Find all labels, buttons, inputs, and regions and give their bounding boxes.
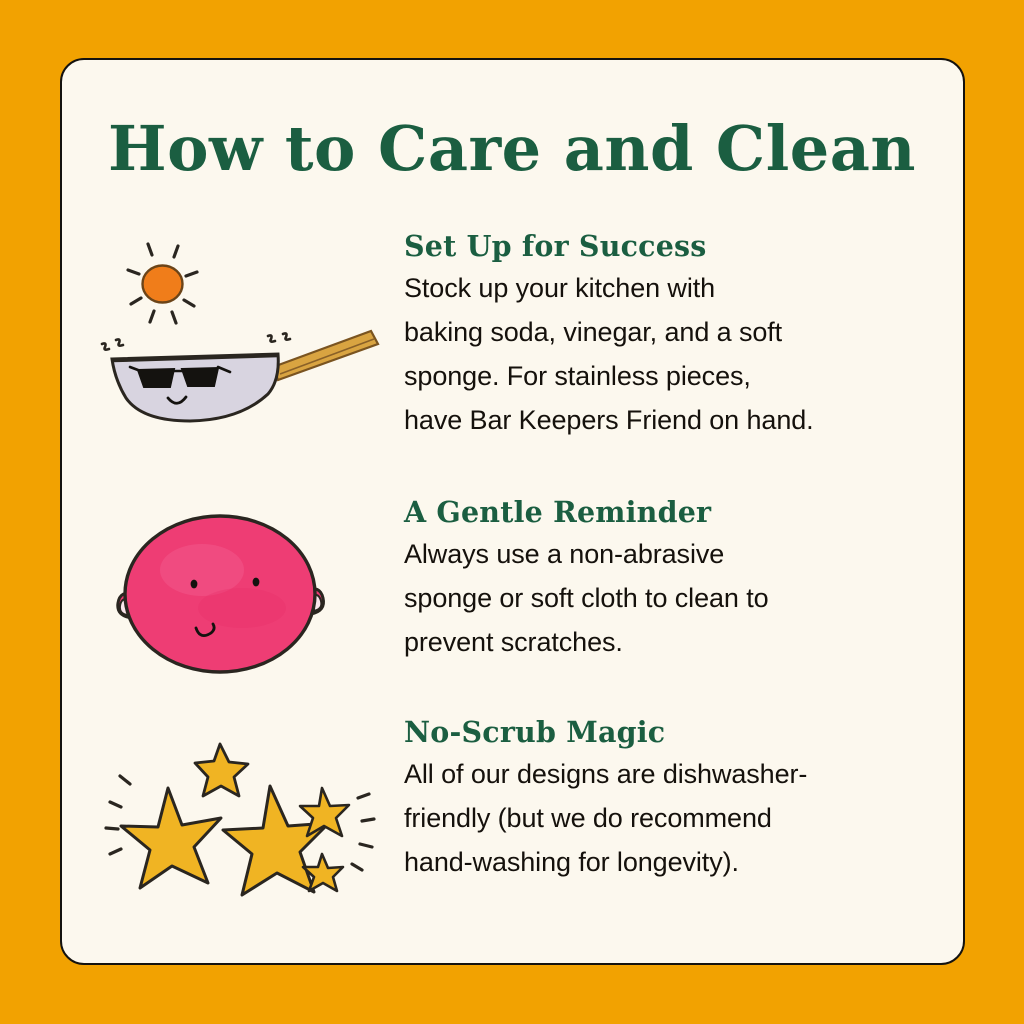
section-a-gentle-reminder: A Gentle Reminder Always use a non-abras… xyxy=(60,496,965,696)
section-3-text: No-Scrub Magic All of our designs are di… xyxy=(404,716,944,884)
pink-dutch-oven-smiling-face-icon xyxy=(90,486,390,696)
section-1-text: Set Up for Success Stock up your kitchen… xyxy=(404,230,944,442)
section-2-heading: A Gentle Reminder xyxy=(404,496,944,529)
frying-pan-with-sunglasses-and-sun-icon xyxy=(90,230,390,440)
section-no-scrub-magic: No-Scrub Magic All of our designs are di… xyxy=(60,716,965,946)
section-2-body: Always use a non-abrasive sponge or soft… xyxy=(404,532,944,664)
sections-container: Set Up for Success Stock up your kitchen… xyxy=(60,58,965,965)
section-3-heading: No-Scrub Magic xyxy=(404,716,944,749)
sparkling-stars-icon xyxy=(90,726,390,936)
section-1-body: Stock up your kitchen with baking soda, … xyxy=(404,266,944,442)
poster-canvas: How to Care and Clean xyxy=(0,0,1024,1024)
section-2-text: A Gentle Reminder Always use a non-abras… xyxy=(404,496,944,664)
section-set-up-for-success: Set Up for Success Stock up your kitchen… xyxy=(60,230,965,470)
section-3-body: All of our designs are dishwasher- frien… xyxy=(404,752,944,884)
section-1-heading: Set Up for Success xyxy=(404,230,944,263)
